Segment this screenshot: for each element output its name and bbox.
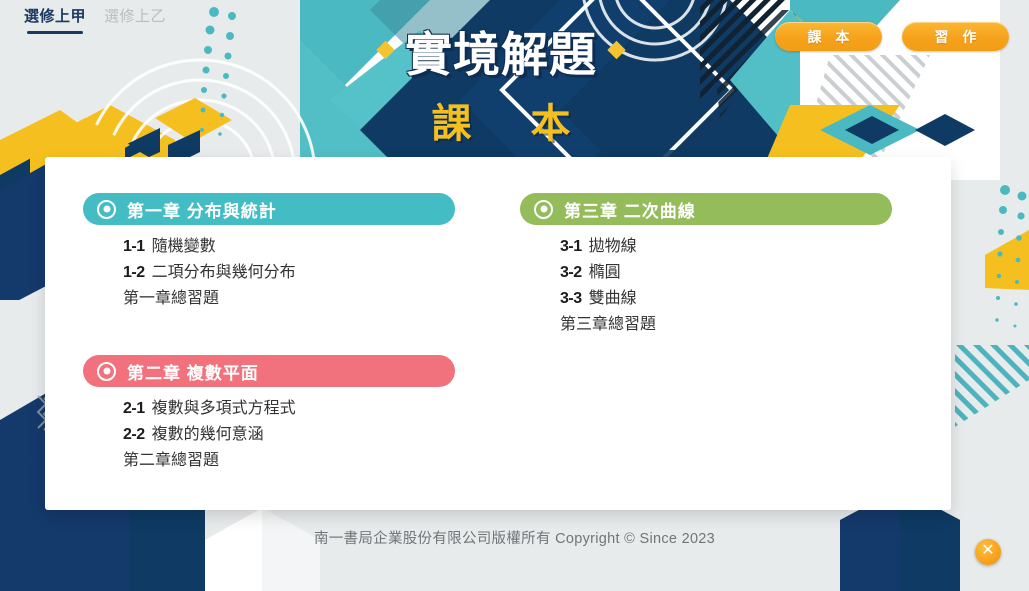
item-label: 雙曲線 bbox=[589, 286, 637, 312]
chapter-block-2: 第二章 複數平面 2-1 複數與多項式方程式 2-2 複數的幾何意涵 第二章總習… bbox=[83, 355, 490, 474]
target-icon bbox=[97, 362, 116, 381]
item-label: 二項分布與幾何分布 bbox=[152, 260, 296, 286]
item-number: 3-2 bbox=[560, 260, 582, 286]
chapter-items-3: 3-1 拋物線 3-2 橢圓 3-3 雙曲線 第三章總習題 bbox=[520, 225, 913, 338]
item-label: 橢圓 bbox=[589, 260, 621, 286]
chapter-header-1[interactable]: 第一章 分布與統計 bbox=[83, 193, 455, 225]
close-icon: ✕ bbox=[981, 543, 994, 559]
item-number: 2-1 bbox=[123, 396, 145, 422]
chapter-column-left: 第一章 分布與統計 1-1 隨機變數 1-2 二項分布與幾何分布 第一章總習題 bbox=[75, 193, 498, 510]
target-icon bbox=[97, 200, 116, 219]
chapter-items-1: 1-1 隨機變數 1-2 二項分布與幾何分布 第一章總習題 bbox=[83, 225, 490, 312]
target-icon bbox=[534, 200, 553, 219]
item-label: 第二章總習題 bbox=[123, 448, 219, 474]
course-tab-list: 選修上甲 選修上乙 bbox=[24, 6, 166, 38]
textbook-button-label: 課 本 bbox=[803, 27, 855, 47]
workbook-button[interactable]: 習 作 bbox=[902, 22, 1009, 51]
chapter-item[interactable]: 第二章總習題 bbox=[123, 448, 490, 474]
item-number: 1-2 bbox=[123, 260, 145, 286]
textbook-button[interactable]: 課 本 bbox=[775, 22, 882, 51]
item-label: 複數與多項式方程式 bbox=[152, 396, 296, 422]
chapter-title-3: 第三章 二次曲線 bbox=[564, 197, 696, 222]
tab-label: 選修上乙 bbox=[104, 8, 166, 25]
tab-label: 選修上甲 bbox=[24, 8, 86, 25]
workbook-button-label: 習 作 bbox=[930, 27, 982, 47]
tab-active-underline bbox=[27, 31, 83, 34]
item-label: 第三章總習題 bbox=[560, 312, 656, 338]
chapter-list-panel: 第一章 分布與統計 1-1 隨機變數 1-2 二項分布與幾何分布 第一章總習題 bbox=[45, 157, 951, 510]
chapter-item[interactable]: 3-2 橢圓 bbox=[560, 260, 913, 286]
material-type-buttons: 課 本 習 作 bbox=[775, 22, 1009, 51]
chapter-item[interactable]: 1-1 隨機變數 bbox=[123, 234, 490, 260]
close-button[interactable]: ✕ bbox=[975, 539, 1001, 565]
item-label: 拋物線 bbox=[589, 234, 637, 260]
item-label: 第一章總習題 bbox=[123, 286, 219, 312]
chapter-item[interactable]: 1-2 二項分布與幾何分布 bbox=[123, 260, 490, 286]
chapter-item[interactable]: 2-1 複數與多項式方程式 bbox=[123, 396, 490, 422]
chapter-header-2[interactable]: 第二章 複數平面 bbox=[83, 355, 455, 387]
chapter-item[interactable]: 3-1 拋物線 bbox=[560, 234, 913, 260]
item-number: 1-1 bbox=[123, 234, 145, 260]
item-number: 3-1 bbox=[560, 234, 582, 260]
chapter-items-2: 2-1 複數與多項式方程式 2-2 複數的幾何意涵 第二章總習題 bbox=[83, 387, 490, 474]
chapter-item[interactable]: 第三章總習題 bbox=[560, 312, 913, 338]
chapter-title-1: 第一章 分布與統計 bbox=[127, 197, 277, 222]
tab-xuanxiu-shang-yi[interactable]: 選修上乙 bbox=[104, 6, 166, 32]
tab-xuanxiu-shang-jia[interactable]: 選修上甲 bbox=[24, 6, 86, 38]
copyright-footer: 南一書局企業股份有限公司版權所有 Copyright © Since 2023 bbox=[0, 527, 1029, 548]
chapter-column-right: 第三章 二次曲線 3-1 拋物線 3-2 橢圓 3-3 雙曲線 bbox=[498, 193, 921, 510]
app-root: 選修上甲 選修上乙 課 本 習 作 實境解題 課 本 bbox=[0, 0, 1029, 591]
chapter-item[interactable]: 3-3 雙曲線 bbox=[560, 286, 913, 312]
item-number: 2-2 bbox=[123, 422, 145, 448]
chapter-title-2: 第二章 複數平面 bbox=[127, 359, 259, 384]
chapter-block-3: 第三章 二次曲線 3-1 拋物線 3-2 橢圓 3-3 雙曲線 bbox=[520, 193, 913, 338]
chapter-header-3[interactable]: 第三章 二次曲線 bbox=[520, 193, 892, 225]
chapter-block-1: 第一章 分布與統計 1-1 隨機變數 1-2 二項分布與幾何分布 第一章總習題 bbox=[83, 193, 490, 312]
chapter-item[interactable]: 2-2 複數的幾何意涵 bbox=[123, 422, 490, 448]
item-label: 複數的幾何意涵 bbox=[152, 422, 264, 448]
chapter-item[interactable]: 第一章總習題 bbox=[123, 286, 490, 312]
item-number: 3-3 bbox=[560, 286, 582, 312]
item-label: 隨機變數 bbox=[152, 234, 216, 260]
